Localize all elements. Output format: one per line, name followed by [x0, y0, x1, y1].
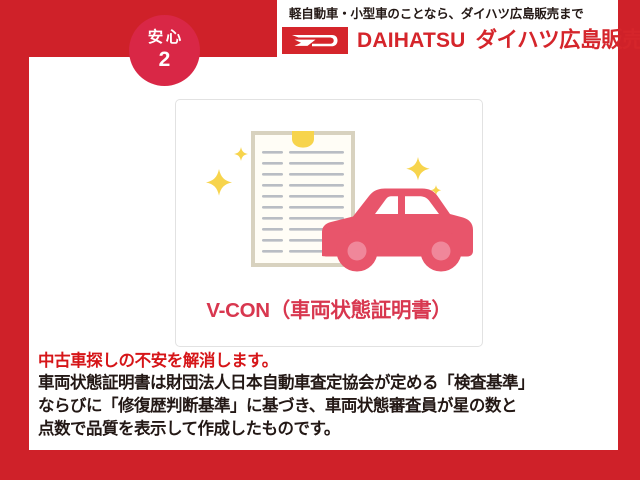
- header-tagline: 軽自動車・小型車のことなら、ダイハツ広島販売まで: [289, 5, 614, 23]
- illustration: [179, 103, 479, 288]
- body-text-block: 中古車探しの不安を解消します。 車両状態証明書は財団法人日本自動車査定協会が定め…: [38, 350, 618, 441]
- vcon-caption: V-CON（車両状態証明書）: [175, 293, 483, 323]
- sparkle-icon-right: [406, 157, 429, 180]
- body-line-3: 点数で品質を表示して作成したものです。: [38, 418, 618, 441]
- slide-root: 軽自動車・小型車のことなら、ダイハツ広島販売まで DAIHATSU ダイハツ広島…: [0, 0, 640, 480]
- brand-name-japanese: ダイハツ広島販売: [476, 27, 640, 54]
- brand-lockup: DAIHATSU ダイハツ広島販売: [282, 27, 618, 54]
- body-line-2: ならびに「修復歴判断基準」に基づき、車両状態審査員が星の数と: [38, 395, 618, 418]
- anshin-badge: 安心 2: [129, 15, 200, 86]
- sparkle-icon-left: [206, 169, 232, 196]
- body-headline: 中古車探しの不安を解消します。: [38, 350, 618, 372]
- sparkle-icon-left-small: [234, 147, 248, 161]
- daihatsu-logo-icon: [282, 27, 348, 54]
- anshin-badge-number: 2: [159, 48, 171, 72]
- anshin-badge-label: 安心: [145, 29, 184, 47]
- body-line-1: 車両状態証明書は財団法人日本自動車査定協会が定める「検査基準」: [38, 372, 618, 395]
- brand-name-latin: DAIHATSU: [357, 27, 466, 54]
- paper-clip-icon: [292, 131, 314, 148]
- content-panel: V-CON（車両状態証明書） 中古車探しの不安を解消します。 車両状態証明書は財…: [29, 57, 618, 450]
